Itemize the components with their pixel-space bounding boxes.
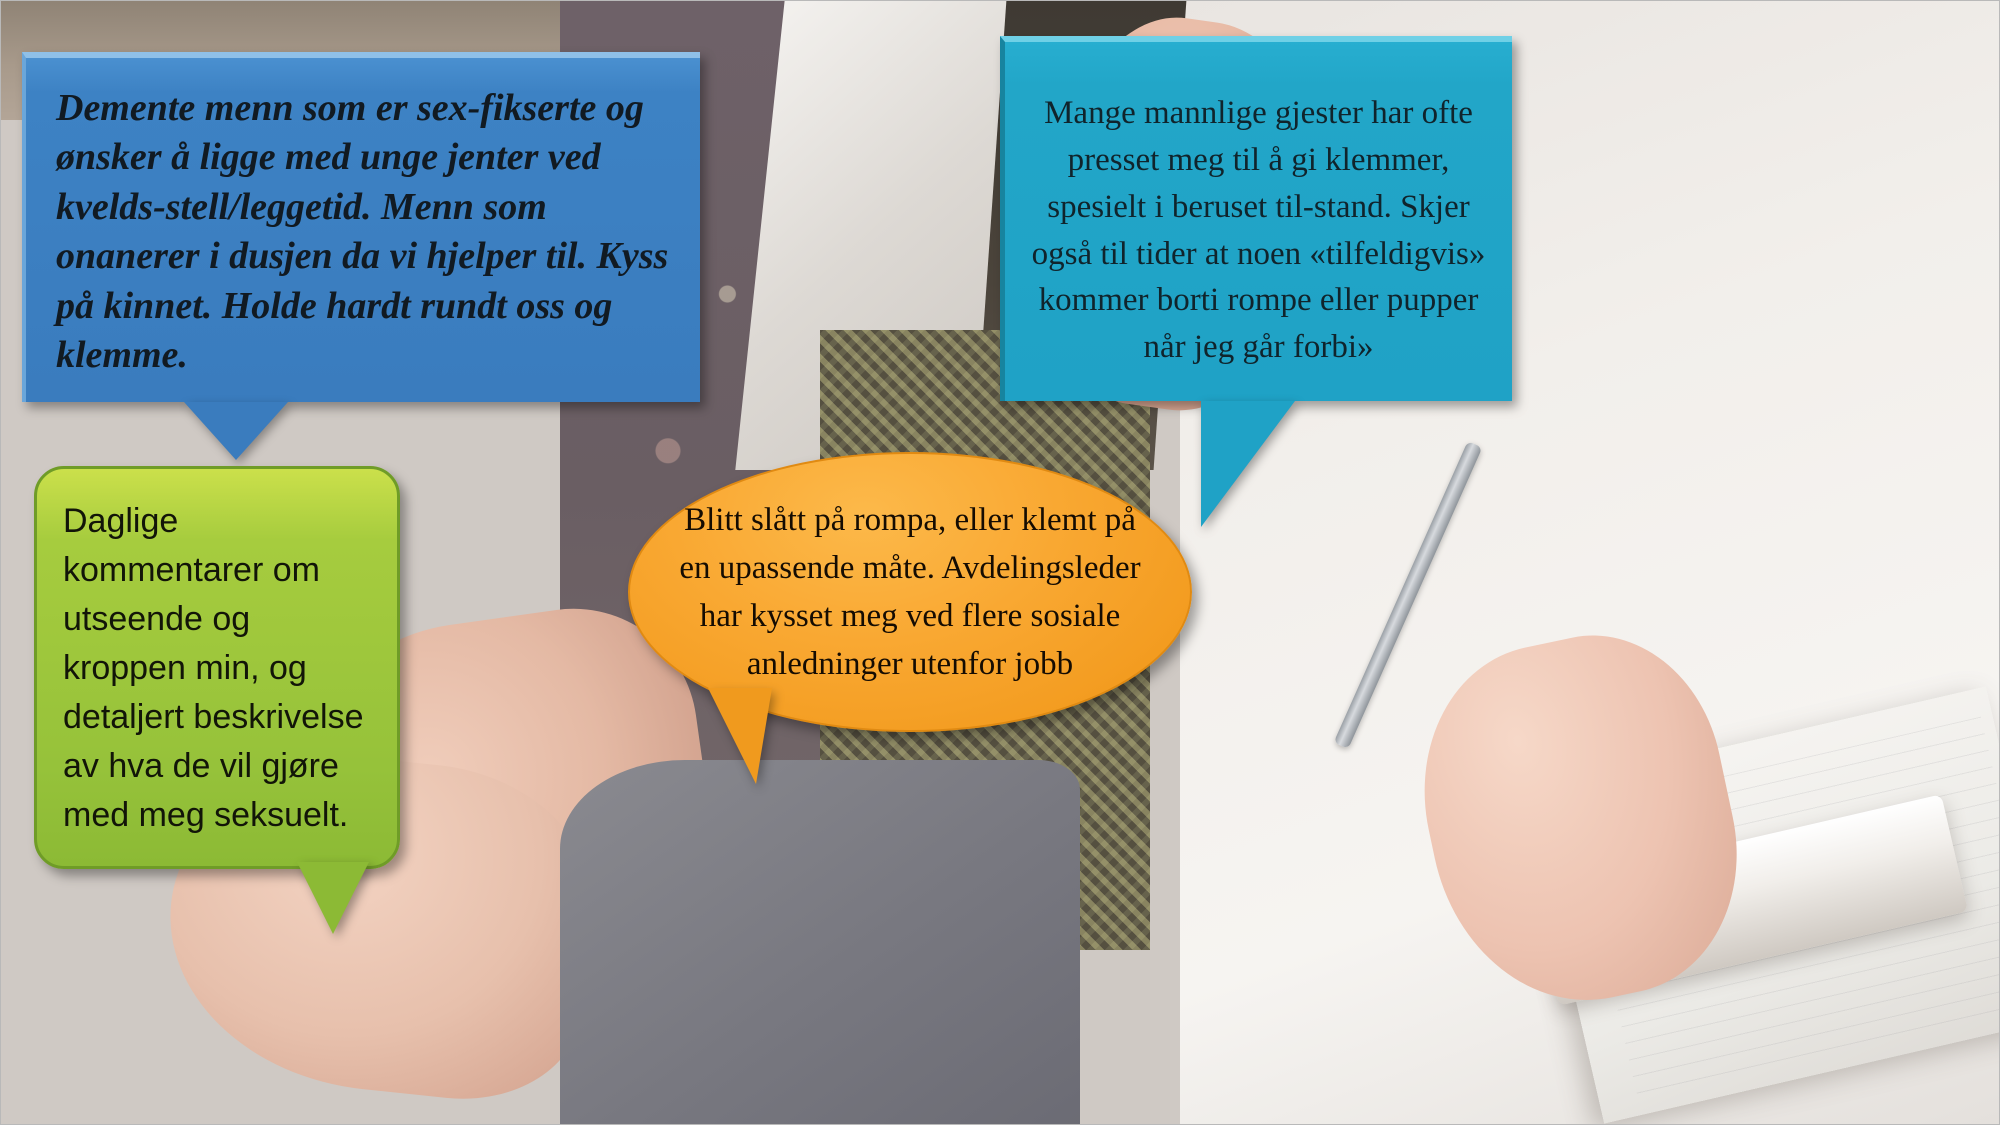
callout-blue-quote: Demente menn som er sex-fikserte og ønsk…: [22, 52, 700, 402]
callout-teal-body: Mange mannlige gjester har ofte presset …: [1000, 36, 1512, 401]
photo-grey-garment: [560, 760, 1080, 1125]
callout-orange-tail: [708, 688, 772, 784]
callout-teal-tail: [1201, 401, 1295, 527]
callout-green-tail: [297, 862, 369, 934]
callout-green-text: Daglige kommentarer om utseende og kropp…: [63, 497, 375, 840]
callout-teal-text: Mange mannlige gjester har ofte presset …: [1027, 90, 1490, 371]
callout-orange-text: Blitt slått på rompa, eller klemt på en …: [676, 496, 1144, 689]
callout-teal-quote: Mange mannlige gjester har ofte presset …: [1000, 36, 1512, 401]
callout-orange-quote: Blitt slått på rompa, eller klemt på en …: [628, 452, 1192, 732]
callout-blue-body: Demente menn som er sex-fikserte og ønsk…: [22, 52, 700, 402]
callout-blue-tail: [184, 402, 288, 460]
callout-green-body: Daglige kommentarer om utseende og kropp…: [34, 466, 400, 869]
callout-blue-text: Demente menn som er sex-fikserte og ønsk…: [56, 84, 674, 380]
callout-green-quote: Daglige kommentarer om utseende og kropp…: [34, 466, 400, 869]
slide-canvas: Demente menn som er sex-fikserte og ønsk…: [0, 0, 2000, 1125]
